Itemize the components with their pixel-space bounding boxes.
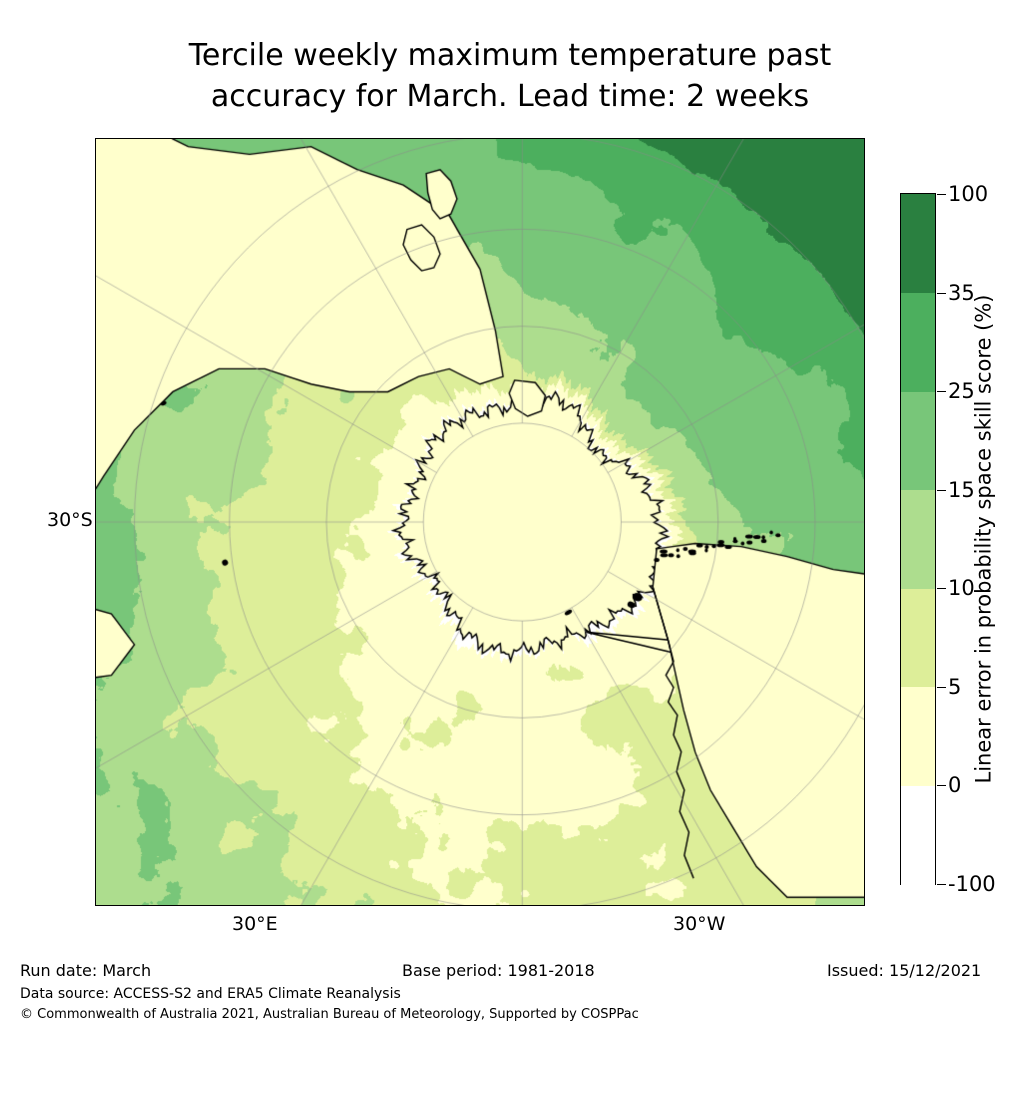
map-raster — [96, 139, 864, 905]
colorbar-band-5 — [901, 293, 935, 392]
footer-data-source: Data source: ACCESS-S2 and ERA5 Climate … — [20, 986, 401, 1002]
colorbar-tick-5 — [937, 687, 946, 688]
colorbar-tick-100 — [937, 194, 946, 195]
colorbar-tick-10 — [937, 588, 946, 589]
colorbar-band-2 — [901, 588, 935, 687]
colorbar-tick-0 — [937, 785, 946, 786]
page-title: Tercile weekly maximum temperature past … — [0, 36, 1020, 117]
colorbar-band-0 — [901, 785, 935, 884]
colorbar-title: Linear error in probability space skill … — [968, 193, 998, 885]
colorbar-tick--100 — [937, 884, 946, 885]
footer-base-period: Base period: 1981-2018 — [402, 961, 595, 980]
axis-label-lon-30w: 30°W — [673, 913, 725, 935]
colorbar-tick-35 — [937, 293, 946, 294]
colorbar-ticklabel-5: 5 — [948, 675, 961, 699]
colorbar-title-text: Linear error in probability space skill … — [971, 295, 995, 784]
axis-label-lat-30s: 30°S — [47, 509, 93, 531]
footer-run-date: Run date: March — [20, 961, 151, 980]
colorbar-band-4 — [901, 391, 935, 490]
colorbar-band-3 — [901, 490, 935, 589]
colorbar-tick-25 — [937, 391, 946, 392]
colorbar: 1003525151050-100 — [900, 193, 936, 885]
footer-issued: Issued: 15/12/2021 — [827, 961, 981, 980]
colorbar-band-1 — [901, 687, 935, 786]
map-plot-area — [95, 138, 865, 906]
colorbar-ticklabel-0: 0 — [948, 773, 961, 797]
footer-copyright: © Commonwealth of Australia 2021, Austra… — [20, 1007, 639, 1022]
colorbar-tick-15 — [937, 490, 946, 491]
colorbar-band-6 — [901, 194, 935, 293]
axis-label-lon-30e: 30°E — [232, 913, 278, 935]
